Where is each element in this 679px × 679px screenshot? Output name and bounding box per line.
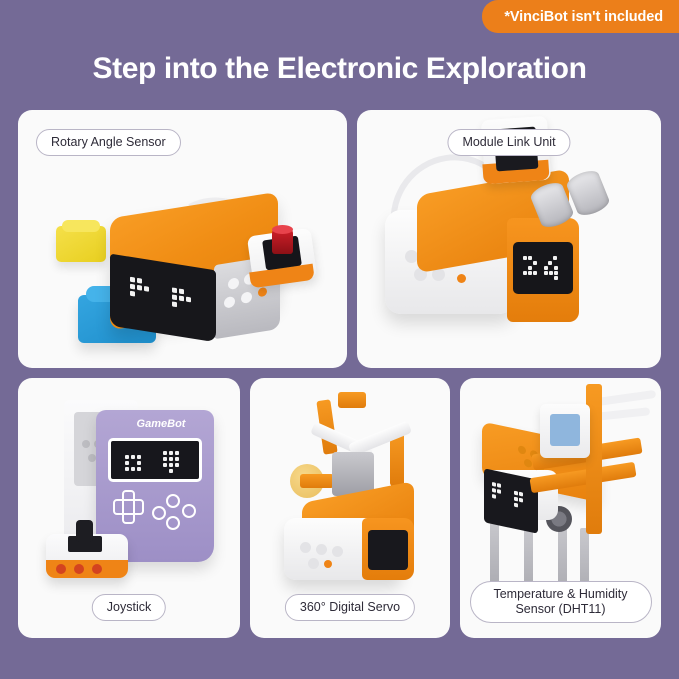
card-label-line-1: Temperature & Humidity bbox=[493, 587, 627, 601]
promo-page: *VinciBot isn't included Step into the E… bbox=[0, 0, 679, 679]
page-title: Step into the Electronic Exploration bbox=[0, 52, 679, 86]
dpad-cross-icon bbox=[113, 499, 144, 515]
card-label-joystick: Joystick bbox=[92, 594, 166, 621]
wire-icon-1 bbox=[596, 390, 657, 406]
card-label-digital-servo: 360° Digital Servo bbox=[285, 594, 415, 621]
joystick-stick-icon bbox=[76, 520, 93, 542]
orange-beam-lower bbox=[300, 474, 334, 488]
led-matrix-display bbox=[368, 530, 408, 570]
orange-beam-top bbox=[338, 392, 366, 408]
joystick-module-base bbox=[46, 560, 128, 578]
disclaimer-badge: *VinciBot isn't included bbox=[482, 0, 679, 33]
card-label-rotary-angle-sensor: Rotary Angle Sensor bbox=[36, 129, 181, 156]
disclaimer-badge-text: *VinciBot isn't included bbox=[504, 9, 663, 25]
feature-card-digital-servo[interactable]: 360° Digital Servo bbox=[250, 378, 450, 638]
yellow-brick-icon bbox=[56, 226, 106, 262]
card-label-module-link-unit: Module Link Unit bbox=[447, 129, 570, 156]
feature-card-grid: Rotary Angle Sensor bbox=[18, 110, 661, 638]
gamebot-screen bbox=[108, 438, 202, 482]
card-label-temperature-humidity-sensor: Temperature & Humidity Sensor (DHT11) bbox=[470, 581, 652, 624]
rotary-knob-cap bbox=[272, 225, 293, 234]
feature-card-temperature-humidity-sensor[interactable]: Temperature & Humidity Sensor (DHT11) bbox=[460, 378, 661, 638]
feature-card-module-link-unit[interactable]: Module Link Unit bbox=[357, 110, 661, 368]
feature-card-rotary-angle-sensor[interactable]: Rotary Angle Sensor bbox=[18, 110, 347, 368]
action-button-c bbox=[166, 516, 180, 530]
action-button-a bbox=[166, 494, 180, 508]
action-button-d bbox=[152, 506, 166, 520]
dht11-sensor-grid bbox=[550, 414, 580, 446]
wire-icon-2 bbox=[596, 407, 651, 421]
feature-card-joystick[interactable]: GameBot bbox=[18, 378, 240, 638]
gamebot-logo: GameBot bbox=[126, 418, 196, 434]
card-label-line-2: Sensor (DHT11) bbox=[515, 602, 605, 616]
action-button-b bbox=[182, 504, 196, 518]
joystick-port-3 bbox=[92, 564, 102, 574]
joystick-port-1 bbox=[56, 564, 66, 574]
distance-display bbox=[513, 242, 573, 294]
joystick-port-2 bbox=[74, 564, 84, 574]
